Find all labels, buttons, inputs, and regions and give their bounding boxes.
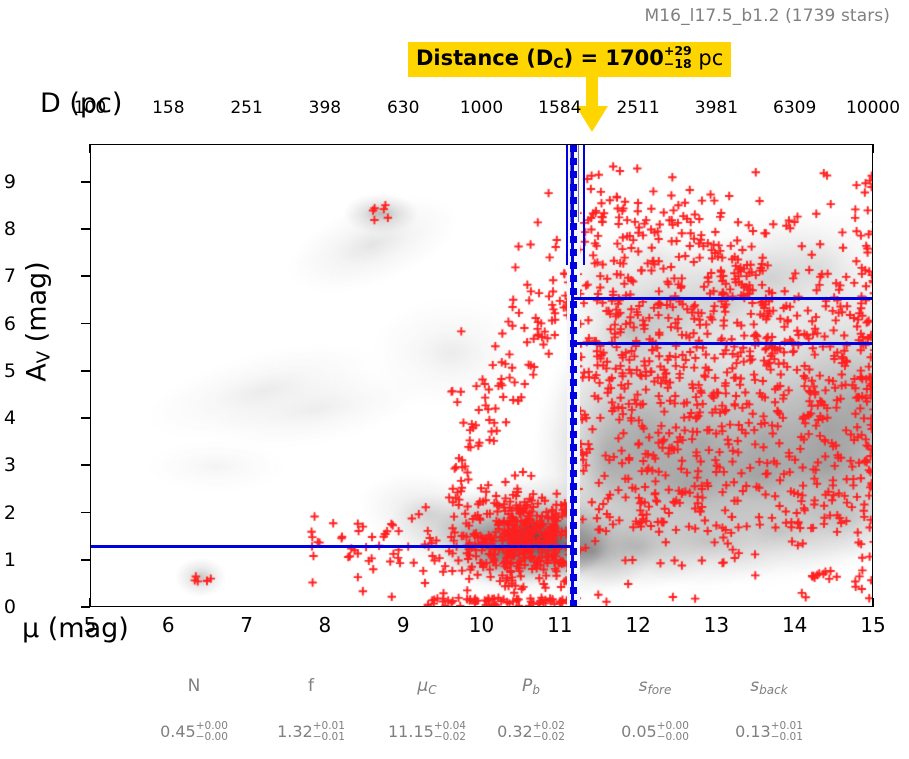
top-tick-label: 2511 <box>616 98 659 118</box>
param-header-subscript: b <box>532 683 540 697</box>
left-tick <box>81 512 90 514</box>
distance-banner: Distance (DC) = 1700+29−18 pc <box>408 42 731 77</box>
background-extinction-line-upper <box>573 297 872 299</box>
left-tick <box>81 370 90 372</box>
param-value: 1.32+0.01−0.01 <box>277 722 345 743</box>
left-tick-label: 6 <box>4 313 16 335</box>
param-err-lower: −0.01 <box>313 732 345 743</box>
param-header-subscript: C <box>428 683 436 697</box>
bottom-tick-label: 15 <box>860 613 885 637</box>
param-value-errors: +0.04−0.02 <box>434 721 466 742</box>
param-value: 11.15+0.04−0.02 <box>388 722 466 743</box>
top-tick-label: 398 <box>309 98 341 118</box>
distance-banner-subscript: C <box>553 56 563 72</box>
param-header-symbol: s <box>750 676 759 696</box>
left-tick-label: 1 <box>4 549 16 571</box>
param-header: sback <box>750 676 787 697</box>
left-tick-label: 5 <box>4 360 16 382</box>
param-value-errors: +0.01−0.01 <box>313 721 345 742</box>
param-header-symbol: P <box>522 676 532 696</box>
distance-banner-errors: +29−18 <box>664 45 692 71</box>
param-err-lower: −0.02 <box>434 732 466 743</box>
left-tick <box>81 228 90 230</box>
left-axis-title-unit: (mag) <box>22 261 53 351</box>
param-err-lower: −0.00 <box>657 732 689 743</box>
left-tick-label: 9 <box>4 171 16 193</box>
bottom-tick-label: 13 <box>704 613 729 637</box>
param-value: 0.32+0.02−0.02 <box>497 722 565 743</box>
param-header: N <box>188 676 201 697</box>
left-tick-label: 7 <box>4 265 16 287</box>
top-tick-label: 251 <box>230 98 262 118</box>
param-value-errors: +0.00−0.00 <box>196 721 228 742</box>
top-tick-label: 158 <box>152 98 184 118</box>
param-header-subscript: back <box>759 683 788 697</box>
bottom-tick-label: 8 <box>319 613 332 637</box>
left-tick <box>81 323 90 325</box>
param-value-number: 0.05 <box>621 722 657 741</box>
top-tick-label: 1000 <box>460 98 503 118</box>
bottom-tick-label: 9 <box>397 613 410 637</box>
figure-subtitle: M16_l17.5_b1.2 (1739 stars) <box>0 6 890 26</box>
param-value-number: 11.15 <box>388 722 434 741</box>
cloud-distance-upper-ci <box>574 145 576 606</box>
param-header-symbol: f <box>308 676 314 696</box>
param-value: 0.45+0.00−0.00 <box>160 722 228 743</box>
left-tick <box>81 417 90 419</box>
param-err-lower: −0.02 <box>533 732 565 743</box>
bottom-tick-label: 6 <box>162 613 175 637</box>
star-scatter <box>91 145 872 606</box>
param-header-symbol: N <box>188 676 201 696</box>
cloud-extinction-jump <box>571 299 574 547</box>
distance-err-lower: −18 <box>664 58 692 71</box>
param-header: sfore <box>639 676 672 697</box>
param-value-number: 0.32 <box>497 722 533 741</box>
left-tick <box>81 275 90 277</box>
figure-root: M16_l17.5_b1.2 (1739 stars) Distance (DC… <box>0 0 909 759</box>
param-err-lower: −0.01 <box>771 732 803 743</box>
left-tick <box>81 559 90 561</box>
plot-area[interactable] <box>90 144 873 607</box>
bottom-tick-label: 14 <box>782 613 807 637</box>
foreground-extinction-line <box>91 545 573 547</box>
distance-banner-prefix: Distance (D <box>416 46 553 70</box>
bottom-tick-label: 11 <box>547 613 572 637</box>
bottom-tick-label: 10 <box>469 613 494 637</box>
param-value: 0.13+0.01−0.01 <box>735 722 803 743</box>
top-tick-label: 10000 <box>846 98 900 118</box>
left-tick-label: 8 <box>4 218 16 240</box>
distance-banner-value: ) = 1700 <box>564 46 664 70</box>
param-header-subscript: fore <box>647 683 671 697</box>
param-value: 0.05+0.00−0.00 <box>621 722 689 743</box>
param-header-symbol: s <box>639 676 648 696</box>
background-extinction-line-lower <box>573 342 872 344</box>
top-tick-label: 630 <box>387 98 419 118</box>
top-tick-label: 1584 <box>538 98 581 118</box>
left-tick-label: 4 <box>4 407 16 429</box>
param-value-errors: +0.02−0.02 <box>533 721 565 742</box>
left-axis-title-sub: V <box>34 351 55 363</box>
param-value-errors: +0.01−0.01 <box>771 721 803 742</box>
param-value-number: 0.13 <box>735 722 771 741</box>
top-tick-label: 6309 <box>773 98 816 118</box>
top-tick-label: 100 <box>74 98 106 118</box>
param-err-lower: −0.00 <box>196 732 228 743</box>
param-header-symbol: μ <box>417 676 428 696</box>
param-header: Pb <box>522 676 540 697</box>
left-tick <box>81 464 90 466</box>
param-value-number: 1.32 <box>277 722 313 741</box>
bottom-tick-label: 7 <box>240 613 253 637</box>
left-tick <box>81 181 90 183</box>
param-value-errors: +0.00−0.00 <box>657 721 689 742</box>
left-axis-title: AV (mag) <box>22 222 55 422</box>
bottom-axis-title: μ (mag) <box>22 613 129 644</box>
top-tick-label: 3981 <box>695 98 738 118</box>
left-tick-label: 3 <box>4 454 16 476</box>
param-header: f <box>308 676 314 697</box>
left-axis-title-main: A <box>22 363 53 381</box>
left-tick-label: 2 <box>4 502 16 524</box>
bottom-tick-label: 12 <box>625 613 650 637</box>
bottom-tick-label: 5 <box>84 613 97 637</box>
param-value-number: 0.45 <box>160 722 196 741</box>
distance-banner-unit: pc <box>692 46 724 70</box>
left-tick-label: 0 <box>4 596 16 618</box>
distance-arrow-shaft <box>586 76 598 110</box>
left-tick <box>81 606 90 608</box>
param-header: μC <box>417 676 436 697</box>
